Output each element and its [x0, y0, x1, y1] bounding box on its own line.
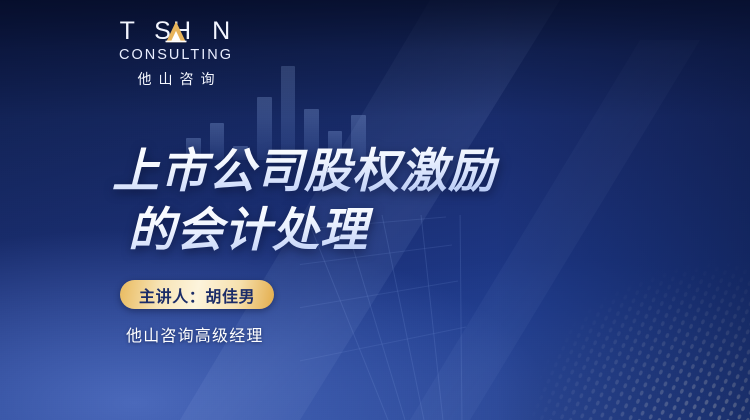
- poster-headline: 上市公司股权激励 的会计处理: [112, 142, 632, 260]
- mountain-triangle-mark-icon: [165, 21, 187, 42]
- headline-line-1: 上市公司股权激励: [112, 142, 632, 201]
- brand-wordmark-right: N: [212, 17, 232, 45]
- brand-wordmark: TASHAN: [112, 18, 240, 44]
- speaker-badge: 主讲人：胡佳男: [120, 280, 274, 309]
- brand-logo: TASHAN CONSULTING 他山咨询: [112, 18, 240, 89]
- brand-subline: CONSULTING: [112, 47, 240, 63]
- headline-line-2: 的会计处理: [112, 201, 632, 260]
- brand-wordmark-left: T: [120, 17, 136, 45]
- brand-chinese-name: 他山咨询: [112, 69, 240, 89]
- speaker-title: 他山咨询高级经理: [126, 322, 264, 346]
- promo-poster: TASHAN CONSULTING 他山咨询 上市公司股权激励 的会计处理 主讲…: [0, 0, 750, 420]
